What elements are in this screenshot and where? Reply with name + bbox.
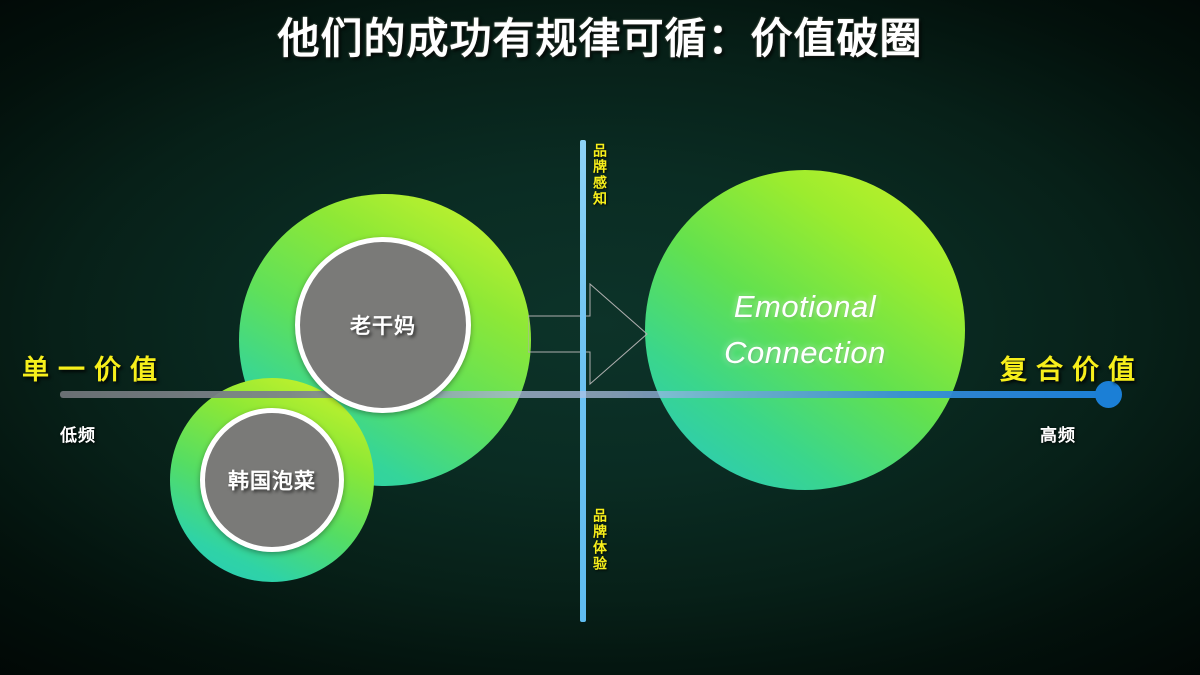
slide-canvas: 他们的成功有规律可循：价值破圈 Emotional Connection 0% … bbox=[0, 0, 1200, 675]
bubble-laoganma-label: 老干妈 bbox=[350, 310, 416, 340]
x-axis-left-label: 单一价值 bbox=[22, 348, 166, 387]
y-axis-line bbox=[580, 140, 586, 622]
bubble-laoganma-core[interactable]: 老干妈 bbox=[295, 237, 471, 413]
y-axis-top-label: 品牌感知 bbox=[590, 143, 610, 207]
bubble-emotional-label: Emotional Connection bbox=[724, 284, 886, 376]
right-arrow-icon: 0% bbox=[528, 278, 648, 390]
bubble-emotional-connection[interactable]: Emotional Connection bbox=[645, 170, 965, 490]
x-axis-left-sublabel: 低频 bbox=[60, 421, 96, 446]
x-axis-right-sublabel: 高频 bbox=[1040, 421, 1076, 446]
bubble-kimchi-core[interactable]: 韩国泡菜 bbox=[200, 408, 344, 552]
y-axis-bottom-label: 品牌体验 bbox=[590, 508, 610, 572]
bubble-kimchi-label: 韩国泡菜 bbox=[228, 465, 316, 495]
page-title: 他们的成功有规律可循：价值破圈 bbox=[0, 8, 1200, 70]
x-axis-right-label: 复合价值 bbox=[1000, 348, 1144, 387]
